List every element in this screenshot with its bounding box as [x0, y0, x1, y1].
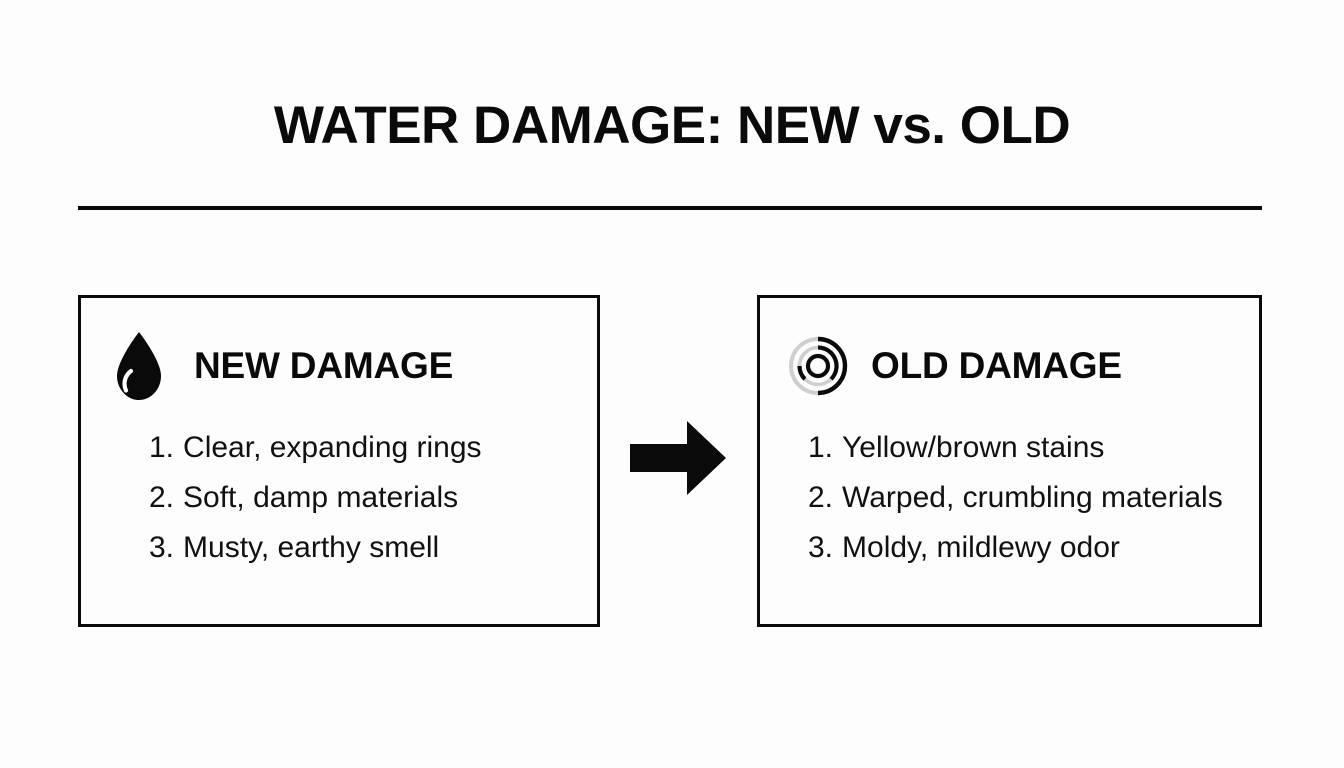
list-item-text: Yellow/brown stains [842, 423, 1104, 473]
list-item-number: 3. [808, 523, 833, 573]
infographic-canvas: WATER DAMAGE: NEW vs. OLD NEW DAMAGE 1. … [0, 0, 1344, 768]
water-droplet-icon [108, 330, 170, 402]
panel-new-damage-title: NEW DAMAGE [194, 345, 453, 387]
panel-old-damage-title: OLD DAMAGE [871, 345, 1122, 387]
list-item: 2. Soft, damp materials [149, 473, 482, 523]
page-title: WATER DAMAGE: NEW vs. OLD [0, 96, 1344, 155]
list-item-text: Moldy, mildlewy odor [842, 523, 1120, 573]
list-item: 1. Yellow/brown stains [808, 423, 1223, 473]
panel-old-damage: OLD DAMAGE 1. Yellow/brown stains 2. War… [757, 295, 1262, 627]
list-item: 3. Musty, earthy smell [149, 523, 482, 573]
list-item-text: Soft, damp materials [183, 473, 458, 523]
panel-new-damage: NEW DAMAGE 1. Clear, expanding rings 2. … [78, 295, 600, 627]
list-item-number: 2. [808, 473, 833, 523]
list-item: 1. Clear, expanding rings [149, 423, 482, 473]
title-divider [78, 206, 1262, 210]
list-item-number: 3. [149, 523, 174, 573]
arrow-right-icon [630, 421, 726, 495]
concentric-rings-icon [787, 330, 849, 402]
panel-new-damage-list: 1. Clear, expanding rings 2. Soft, damp … [149, 423, 482, 573]
list-item-number: 2. [149, 473, 174, 523]
list-item: 2. Warped, crumbling materials [808, 473, 1223, 523]
panel-new-damage-header: NEW DAMAGE [108, 330, 453, 402]
list-item-text: Musty, earthy smell [183, 523, 439, 573]
list-item: 3. Moldy, mildlewy odor [808, 523, 1223, 573]
list-item-number: 1. [808, 423, 833, 473]
list-item-text: Warped, crumbling materials [842, 473, 1223, 523]
panel-old-damage-header: OLD DAMAGE [787, 330, 1122, 402]
list-item-number: 1. [149, 423, 174, 473]
list-item-text: Clear, expanding rings [183, 423, 482, 473]
panel-old-damage-list: 1. Yellow/brown stains 2. Warped, crumbl… [808, 423, 1223, 573]
